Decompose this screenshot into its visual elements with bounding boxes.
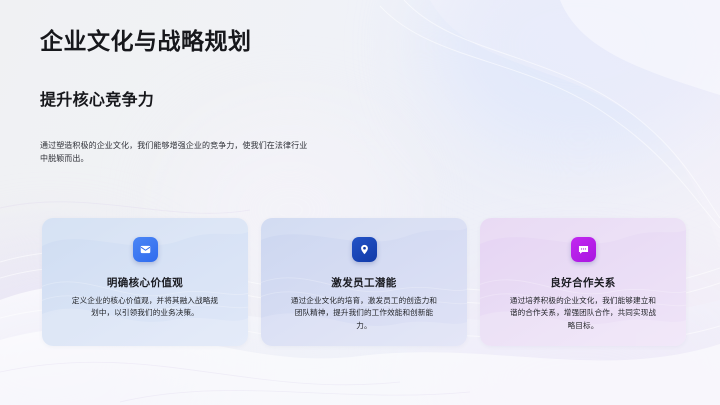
page-title: 企业文化与战略规划 (40, 28, 252, 56)
card-title: 良好合作关系 (550, 275, 615, 290)
background-glow-top-right (430, 0, 720, 160)
intro-paragraph: 通过塑造积极的企业文化，我们能够增强企业的竞争力，使我们在法律行业中脱颖而出。 (40, 139, 308, 165)
feature-card-collaboration[interactable]: 良好合作关系 通过培养积极的企业文化，我们能够建立和谐的合作关系，增强团队合作，… (480, 218, 686, 346)
mail-icon (133, 237, 158, 262)
feature-card-core-values[interactable]: 明确核心价值观 定义企业的核心价值观，并将其融入战略规划中，以引领我们的业务决策… (42, 218, 248, 346)
card-description: 通过企业文化的培育，激发员工的创造力和团队精神，提升我们的工作效能和创新能力。 (289, 295, 439, 332)
card-description: 定义企业的核心价值观，并将其融入战略规划中，以引领我们的业务决策。 (70, 295, 220, 320)
page-subtitle: 提升核心竞争力 (40, 91, 154, 111)
card-description: 通过培养积极的企业文化，我们能够建立和谐的合作关系，增强团队合作，共同实现战略目… (508, 295, 658, 332)
feature-card-row: 明确核心价值观 定义企业的核心价值观，并将其融入战略规划中，以引领我们的业务决策… (42, 218, 686, 346)
card-title: 明确核心价值观 (107, 275, 183, 290)
slide-canvas: 企业文化与战略规划 提升核心竞争力 通过塑造积极的企业文化，我们能够增强企业的竞… (0, 0, 720, 405)
feature-card-employee-potential[interactable]: 激发员工潜能 通过企业文化的培育，激发员工的创造力和团队精神，提升我们的工作效能… (261, 218, 467, 346)
chat-bubble-icon (571, 237, 596, 262)
card-title: 激发员工潜能 (331, 275, 396, 290)
location-pin-icon (352, 237, 377, 262)
